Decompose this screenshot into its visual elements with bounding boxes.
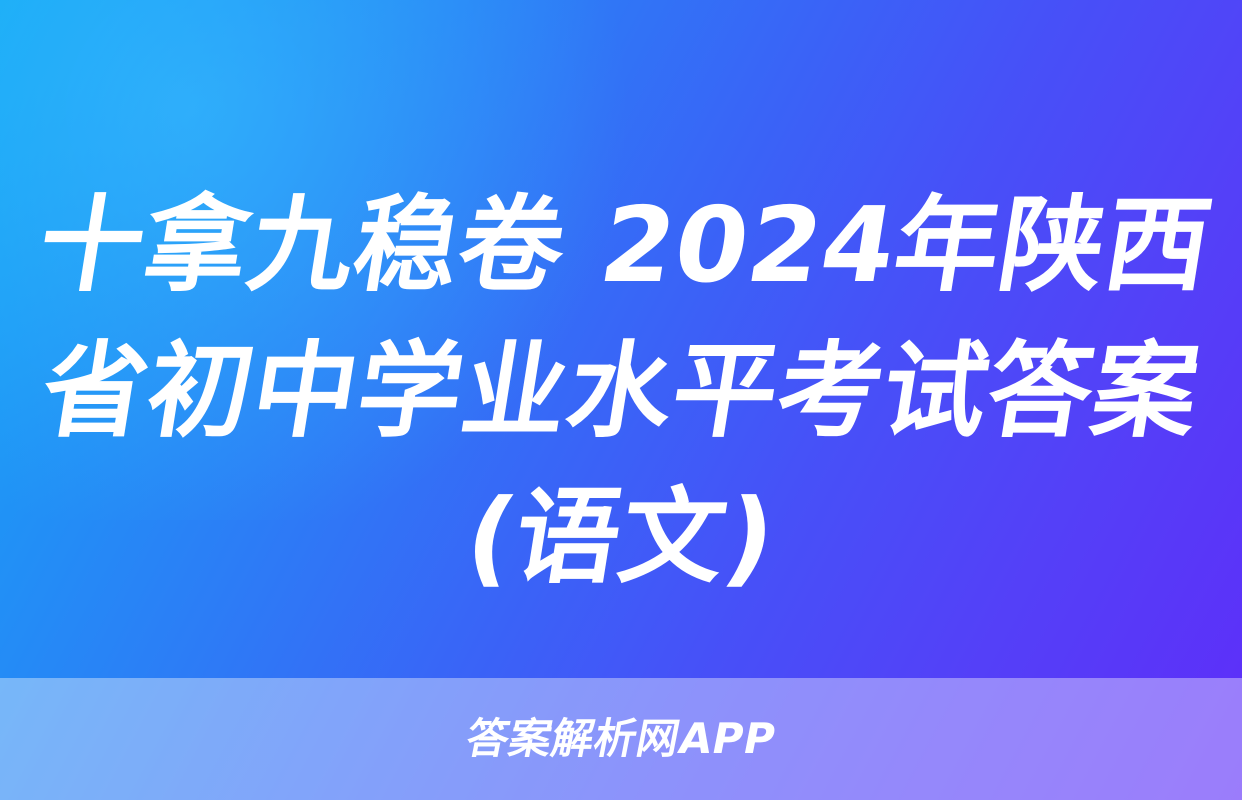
headline-line-1: 十拿九稳卷 2024年陕西 (28, 172, 1213, 318)
headline-line-2: 省初中学业水平考试答案 (28, 318, 1213, 464)
footer-brand-label: 答案解析网APP (462, 716, 779, 762)
headline-block: 十拿九稳卷 2024年陕西 省初中学业水平考试答案 (语文) (0, 172, 1242, 610)
poster-canvas: 十拿九稳卷 2024年陕西 省初中学业水平考试答案 (语文) 答案解析网APP (0, 0, 1242, 800)
footer-brand-band: 答案解析网APP (0, 678, 1242, 800)
headline-line-3: (语文) (28, 464, 1213, 610)
